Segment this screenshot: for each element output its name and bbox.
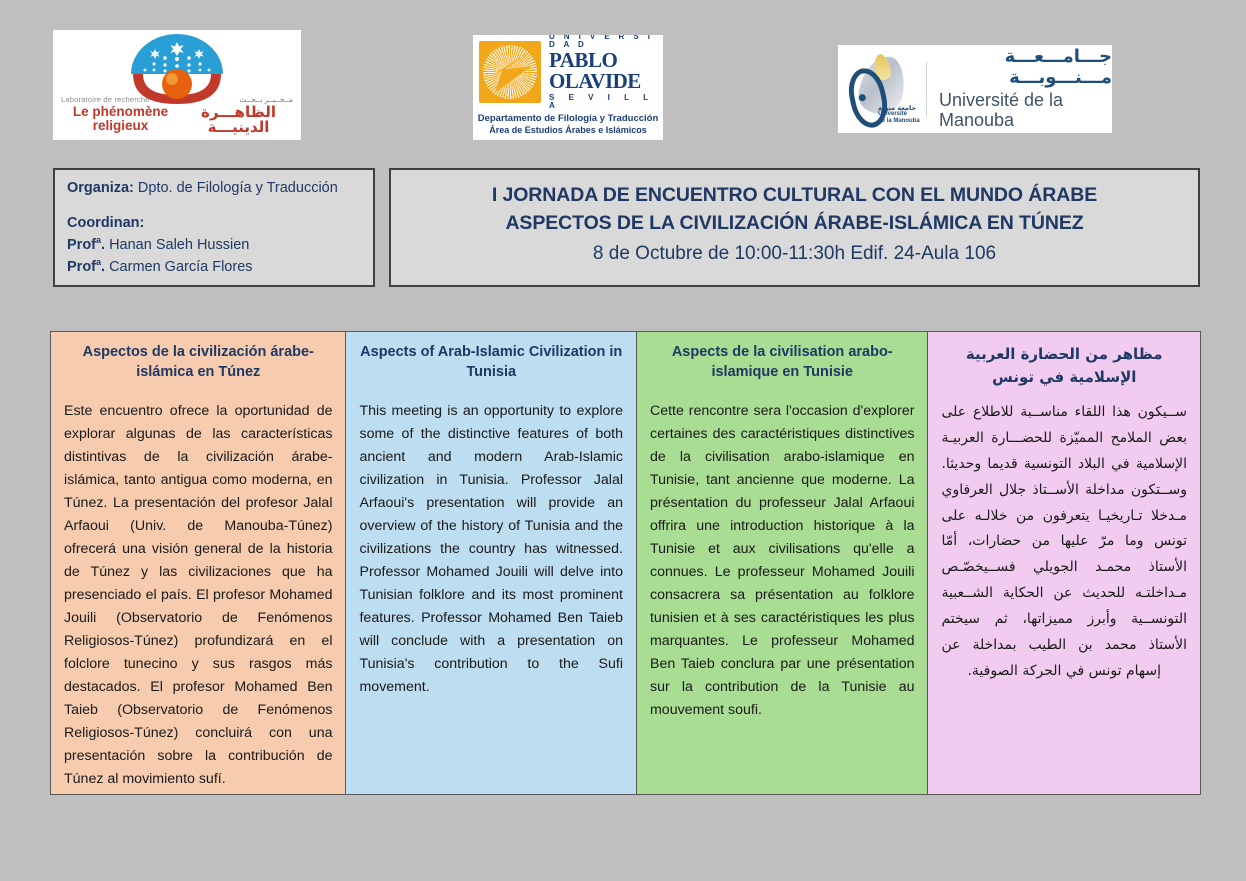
coordinan-label-line: Coordinan: bbox=[67, 213, 363, 234]
coordinator-1-name: Hanan Saleh Hussien bbox=[105, 237, 249, 253]
event-title-line-2: ASPECTOS DE LA CIVILIZACIÓN ÁRABE-ISLÁMI… bbox=[505, 209, 1083, 237]
universidad-pablo-olavide-logo: U N I V E R S I D A D PABLO OLAVIDE S E … bbox=[473, 35, 663, 140]
laboratoire-de-recherche-logo: Laboratoire de recherche مــخــبــر بــح… bbox=[53, 30, 301, 140]
panel-english-body: This meeting is an opportunity to explor… bbox=[359, 400, 623, 699]
panel-arabic: مظاهر من الحضارة العربية الإسلامية في تو… bbox=[928, 332, 1200, 794]
panel-french: Aspects de la civilisation arabo-islamiq… bbox=[637, 332, 928, 794]
panel-french-body: Cette rencontre sera l'occasion d'explor… bbox=[650, 400, 915, 722]
event-title-line-1: I JORNADA DE ENCUENTRO CULTURAL CON EL M… bbox=[492, 181, 1097, 209]
universite-de-la-manouba-logo: جامعة منوبة Université de la Manouba جــ… bbox=[838, 45, 1112, 133]
organiza-label: Organiza: bbox=[67, 180, 134, 196]
upo-universidad-label: U N I V E R S I D A D bbox=[549, 35, 657, 49]
coordinator-2-line: Profa. Carmen García Flores bbox=[67, 256, 363, 278]
panel-arabic-title: مظاهر من الحضارة العربية الإسلامية في تو… bbox=[941, 343, 1187, 388]
coordinator-1-line: Profa. Hanan Saleh Hussien bbox=[67, 234, 363, 256]
panel-french-title: Aspects de la civilisation arabo-islamiq… bbox=[650, 343, 915, 382]
coordinator-2-name: Carmen García Flores bbox=[105, 259, 252, 275]
lab-logo-ar-main: الظاهـــرة الدينيـــة bbox=[182, 105, 295, 137]
upo-sevilla-label: S E V I L L A bbox=[549, 94, 657, 110]
panel-english: Aspects of Arab-Islamic Civilization in … bbox=[346, 332, 636, 794]
manouba-french-name: Université de la Manouba bbox=[939, 90, 1112, 131]
multilingual-description-table: Aspectos de la civilización árabe-islámi… bbox=[50, 331, 1201, 795]
organiza-line: Organiza: Dpto. de Filología y Traducció… bbox=[67, 178, 363, 199]
panel-english-title: Aspects of Arab-Islamic Civilization in … bbox=[359, 343, 623, 382]
manouba-emblem-icon: جامعة منوبة Université de la Manouba bbox=[844, 52, 922, 126]
lab-logo-fr-main: Le phénomène religieux bbox=[59, 105, 182, 137]
upo-olavide-label: OLAVIDE bbox=[549, 71, 657, 92]
logo-strip: Laboratoire de recherche مــخــبــر بــح… bbox=[0, 0, 1246, 155]
manouba-divider bbox=[926, 62, 927, 116]
panel-arabic-body: ســيكون هذا اللقاء مناســبة للاطلاع على … bbox=[941, 400, 1187, 685]
manouba-mark-arabic: جامعة منوبة bbox=[878, 105, 920, 112]
panel-spanish-title: Aspectos de la civilización árabe-islámi… bbox=[64, 343, 332, 382]
panel-spanish-body: Este encuentro ofrece la oportunidad de … bbox=[64, 400, 332, 791]
organiza-spacer bbox=[67, 199, 363, 213]
organizer-info-box: Organiza: Dpto. de Filología y Traducció… bbox=[53, 168, 375, 287]
prof-abbrev-1: Prof bbox=[67, 237, 96, 253]
panel-spanish: Aspectos de la civilización árabe-islámi… bbox=[51, 332, 345, 794]
upo-pablo-label: PABLO bbox=[549, 50, 657, 71]
upo-department-line2: Área de Estudios Árabes e Islámicos bbox=[473, 125, 663, 136]
event-title-banner: I JORNADA DE ENCUENTRO CULTURAL CON EL M… bbox=[389, 168, 1200, 287]
organiza-value: Dpto. de Filología y Traducción bbox=[134, 180, 338, 196]
lab-logo-fr-small: Laboratoire de recherche bbox=[61, 96, 150, 104]
upo-sunburst-icon bbox=[479, 41, 541, 103]
upo-department-line1: Departamento de Filología y Traducción bbox=[473, 113, 663, 125]
coordinan-label: Coordinan: bbox=[67, 215, 144, 231]
prof-abbrev-2: Prof bbox=[67, 259, 96, 275]
event-datetime-venue: 8 de Octubre de 10:00-11:30h Edif. 24-Au… bbox=[593, 240, 996, 269]
manouba-arabic-name: جـــامـــعـــة مـــنـــوبـــة bbox=[939, 47, 1112, 88]
manouba-mark-french-2: de la Manouba bbox=[878, 118, 920, 124]
